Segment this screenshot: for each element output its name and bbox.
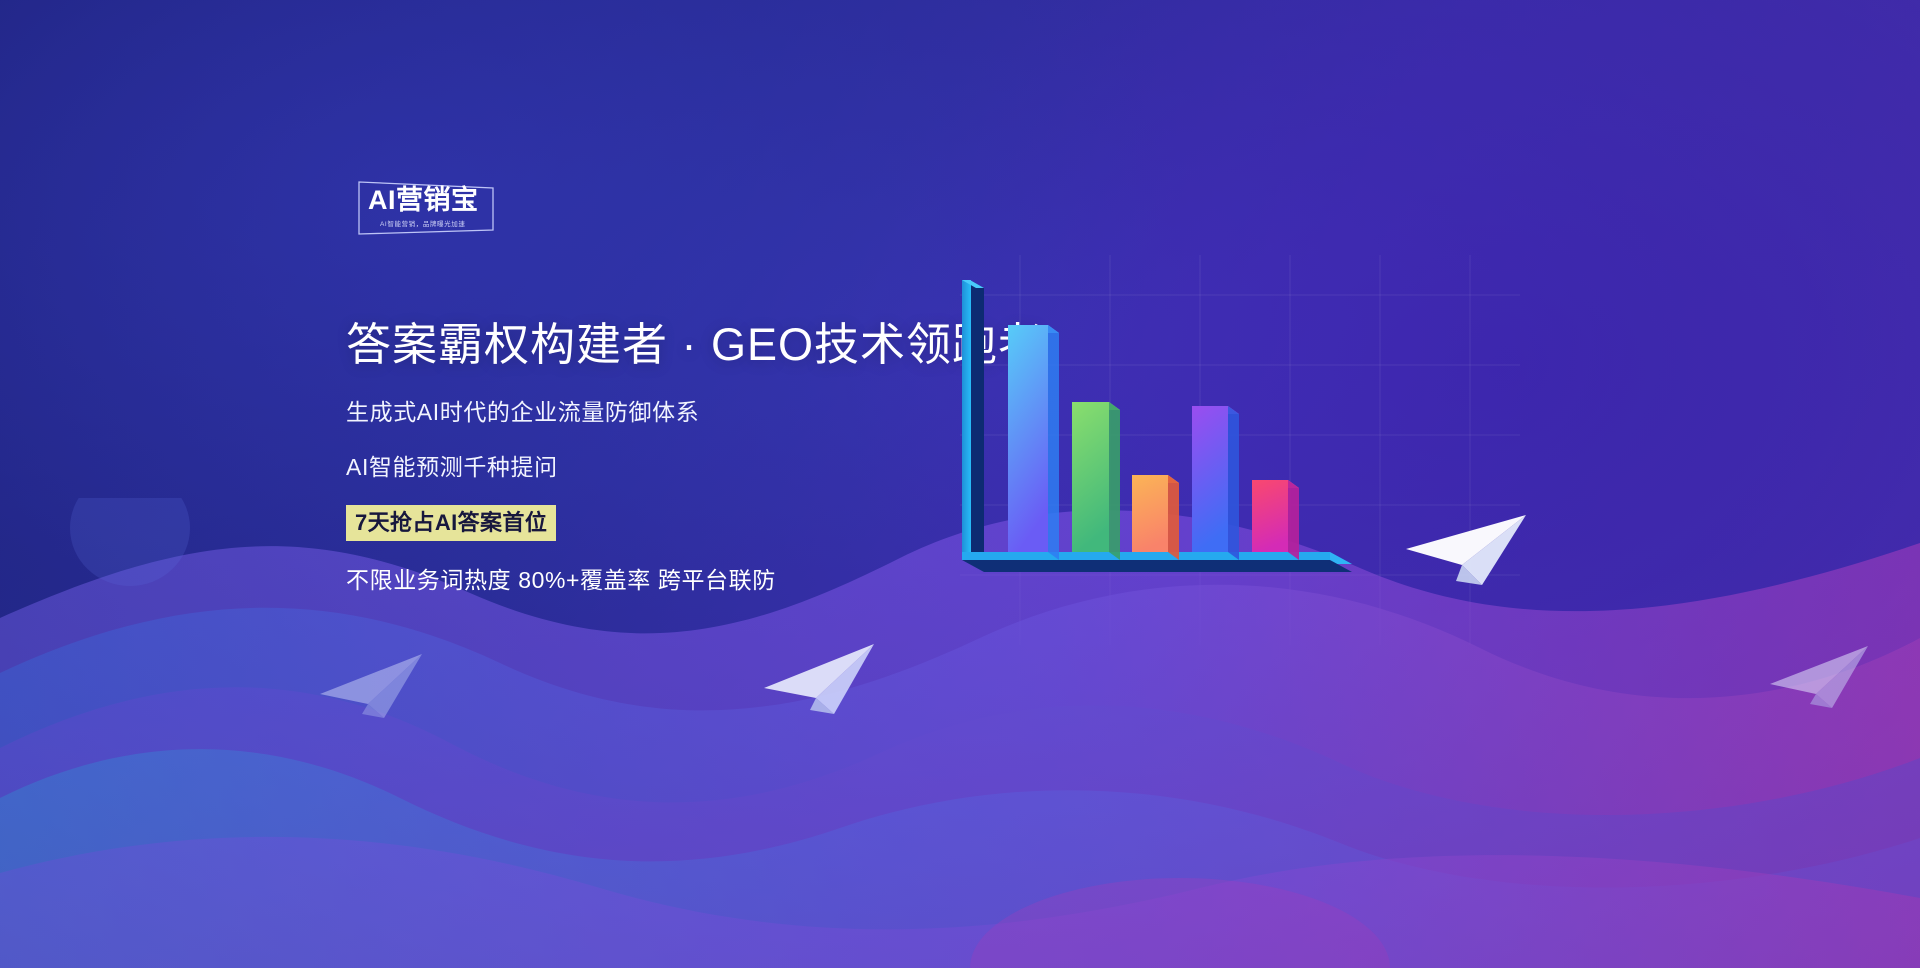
chart-bar-4 <box>1192 406 1239 560</box>
chart-y-axis <box>962 280 984 560</box>
chart-bar-1 <box>1008 325 1059 560</box>
bar-chart-illustration <box>960 280 1480 680</box>
logo-tagline: AI智能营销，品牌曝光加速 <box>380 218 465 228</box>
hero-banner: AI营销宝 AI智能营销，品牌曝光加速 答案霸权构建者 · GEO技术领跑者 生… <box>0 0 1920 968</box>
chart-bar-5 <box>1252 480 1299 560</box>
brand-logo[interactable]: AI营销宝 AI智能营销，品牌曝光加速 <box>356 178 496 236</box>
paper-plane-left-icon <box>316 646 428 726</box>
paper-plane-mid-icon <box>760 636 880 722</box>
chart-bar-2 <box>1072 402 1120 560</box>
paper-plane-right-icon <box>1766 638 1874 716</box>
hero-highlight-badge: 7天抢占AI答案首位 <box>346 505 556 541</box>
chart-bar-3 <box>1132 475 1179 560</box>
logo-wordmark: AI营销宝 <box>368 187 479 214</box>
paper-plane-chart-icon <box>1400 505 1530 597</box>
